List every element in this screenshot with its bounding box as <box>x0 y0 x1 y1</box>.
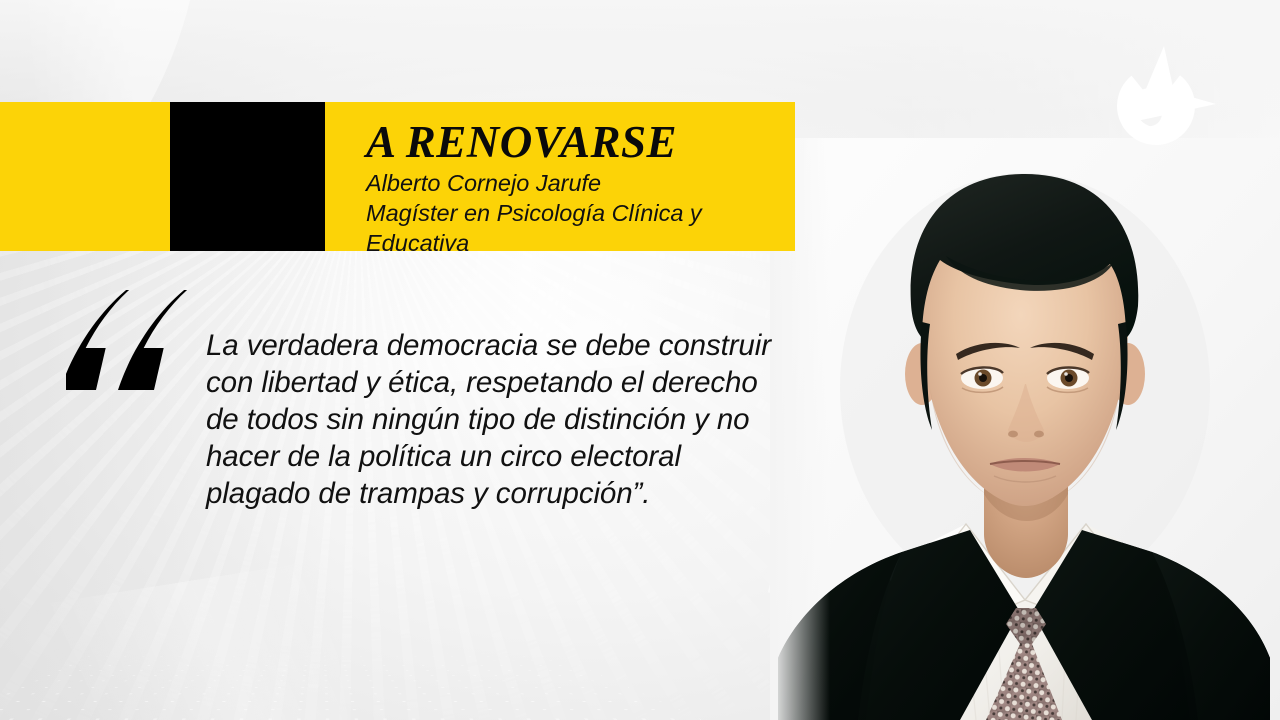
quote-line: con libertad y ética, respetando el dere… <box>206 364 806 401</box>
circular-arrow-logo-icon <box>1102 42 1220 146</box>
quote-line: de todos sin ningún tipo de distinción y… <box>206 401 806 438</box>
quote-line: La verdadera democracia se debe construi… <box>206 327 806 364</box>
banner-black-block <box>170 102 325 251</box>
portrait-photo <box>770 138 1280 720</box>
header-banner: A RENOVARSE Alberto Cornejo Jarufe Magís… <box>0 102 795 251</box>
banner-text-block: A RENOVARSE Alberto Cornejo Jarufe Magís… <box>325 102 795 251</box>
author-credential: Magíster en Psicología Clínica y Educati… <box>366 198 795 258</box>
brand-logo[interactable] <box>1102 42 1220 146</box>
author-name: Alberto Cornejo Jarufe <box>366 168 795 198</box>
quote-line: plagado de trampas y corrupción”. <box>206 475 806 512</box>
quote-card-canvas: A RENOVARSE Alberto Cornejo Jarufe Magís… <box>0 0 1280 720</box>
quote-text: La verdadera democracia se debe construi… <box>206 327 806 512</box>
quote-line: hacer de la política un circo electoral <box>206 438 806 475</box>
page-title: A RENOVARSE <box>366 116 795 168</box>
quotation-mark-icon <box>66 286 196 396</box>
banner-accent-block-left <box>0 102 170 251</box>
